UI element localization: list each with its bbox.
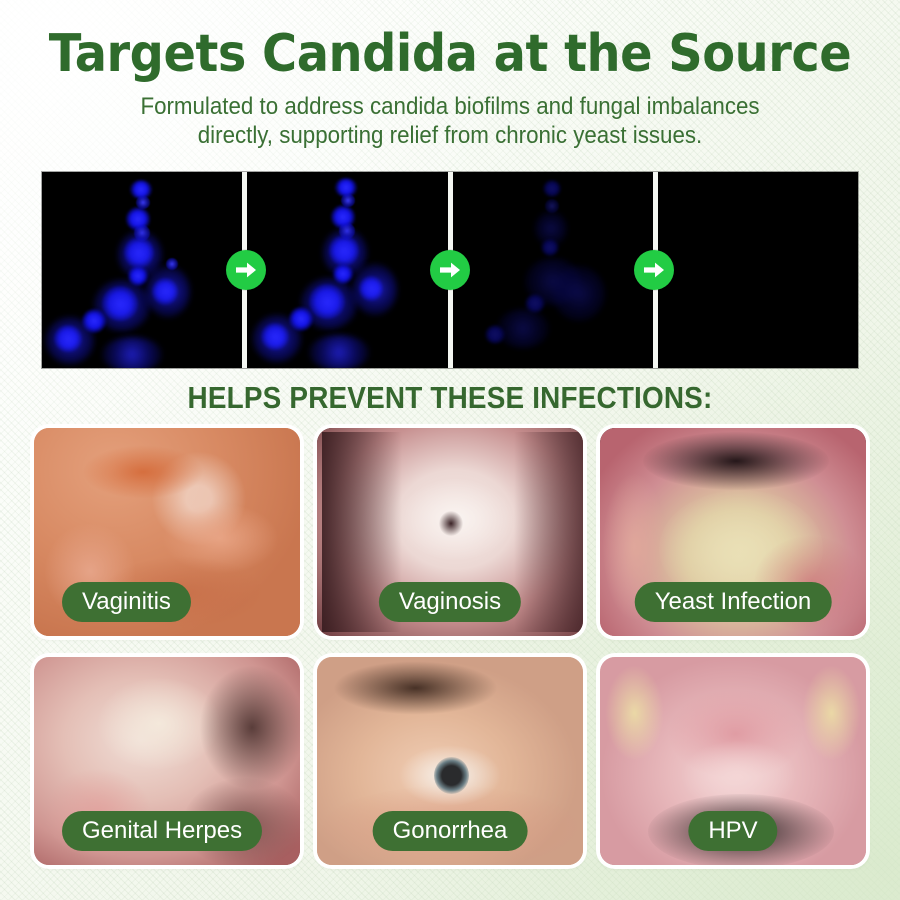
page-subtitle-line-1: Formulated to address candida biofilms a… [32, 92, 869, 121]
biofilm-colony [247, 172, 447, 368]
card-label-vaginitis: Vaginitis [62, 582, 191, 622]
page-subtitle-line-2: directly, supporting relief from chronic… [32, 121, 869, 150]
page-title: Targets Candida at the Source [36, 0, 864, 80]
biofilm-panel-1 [42, 172, 242, 368]
card-yeast-infection[interactable]: Yeast Infection [600, 428, 866, 636]
page-subtitle: Formulated to address candida biofilms a… [32, 80, 869, 151]
card-vaginosis[interactable]: Vaginosis [317, 428, 583, 636]
arrow-right-icon-3 [634, 250, 674, 290]
biofilm-colony [42, 172, 242, 368]
card-label-vaginosis: Vaginosis [379, 582, 521, 622]
card-label-hpv: HPV [688, 811, 777, 851]
card-gonorrhea[interactable]: Gonorrhea [317, 657, 583, 865]
card-label-genital-herpes: Genital Herpes [62, 811, 262, 851]
biofilm-panel-2 [242, 172, 447, 368]
arrow-right-icon-1 [226, 250, 266, 290]
biofilm-progression-strip [42, 172, 858, 368]
card-genital-herpes[interactable]: Genital Herpes [34, 657, 300, 865]
card-label-yeast-infection: Yeast Infection [635, 582, 832, 622]
infographic-page: Targets Candida at the Source Formulated… [0, 0, 900, 900]
biofilm-panel-4 [653, 172, 858, 368]
infection-card-grid: Vaginitis Vaginosis Yeast Infection Geni… [34, 428, 866, 865]
arrow-right-icon-2 [430, 250, 470, 290]
card-hpv[interactable]: HPV [600, 657, 866, 865]
biofilm-panel-3 [448, 172, 653, 368]
card-label-gonorrhea: Gonorrhea [373, 811, 528, 851]
biofilm-colony [453, 172, 653, 368]
section-title: HELPS PREVENT THESE INFECTIONS: [45, 380, 855, 416]
card-vaginitis[interactable]: Vaginitis [34, 428, 300, 636]
